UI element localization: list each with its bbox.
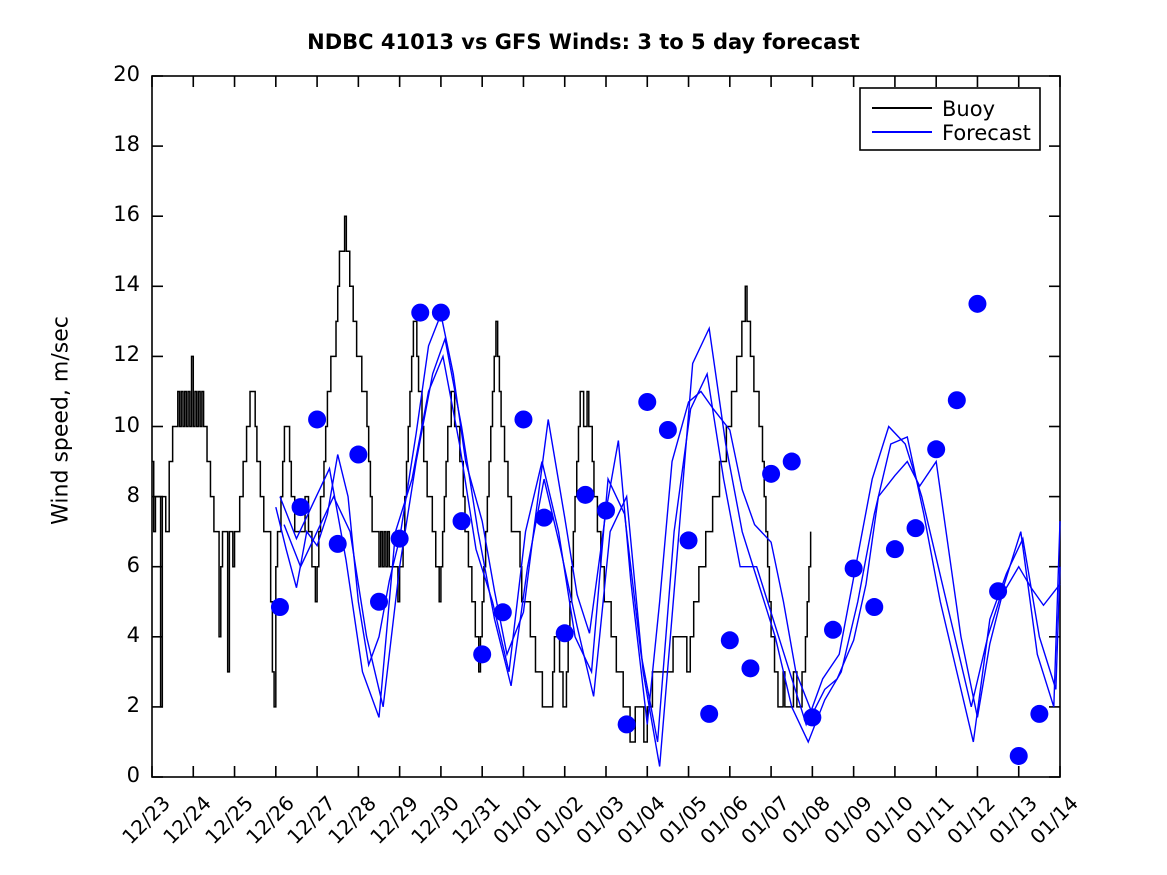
scatter-marker [1030,705,1048,723]
scatter-marker [927,440,945,458]
y-tick-label: 2 [80,693,140,717]
y-tick-label: 14 [80,272,140,296]
scatter-marker [411,304,429,322]
scatter-marker [638,393,656,411]
scatter-marker [803,708,821,726]
scatter-marker [514,410,532,428]
scatter-marker [865,598,883,616]
y-tick-label: 20 [80,62,140,86]
legend-label-buoy: Buoy [942,97,995,121]
scatter-marker [968,295,986,313]
scatter-marker [659,421,677,439]
scatter-marker [370,593,388,611]
plot-area: BuoyForecast [0,0,1167,875]
scatter-marker [721,631,739,649]
scatter-marker [783,453,801,471]
y-tick-label: 18 [80,132,140,156]
scatter-marker [700,705,718,723]
scatter-marker [535,509,553,527]
scatter-marker [473,645,491,663]
scatter-marker [989,582,1007,600]
scatter-marker [453,512,471,530]
scatter-marker [680,531,698,549]
y-tick-label: 4 [80,623,140,647]
scatter-marker [824,621,842,639]
y-tick-label: 6 [80,553,140,577]
scatter-marker [329,535,347,553]
y-tick-label: 8 [80,483,140,507]
y-tick-label: 0 [80,763,140,787]
legend-label-forecast: Forecast [942,121,1031,145]
scatter-marker [391,530,409,548]
scatter-marker [1010,747,1028,765]
scatter-marker [556,624,574,642]
scatter-marker [762,465,780,483]
y-tick-label: 12 [80,342,140,366]
scatter-marker [308,410,326,428]
scatter-marker [907,519,925,537]
scatter-marker [948,391,966,409]
scatter-marker [845,559,863,577]
scatter-marker [494,603,512,621]
scatter-marker [292,498,310,516]
scatter-marker [618,715,636,733]
chart-legend: BuoyForecast [860,88,1040,150]
scatter-marker [886,540,904,558]
scatter-marker [271,598,289,616]
y-tick-label: 16 [80,202,140,226]
y-tick-label: 10 [80,413,140,437]
scatter-marker [432,304,450,322]
chart-page: NDBC 41013 vs GFS Winds: 3 to 5 day fore… [0,0,1167,875]
scatter-marker [741,659,759,677]
scatter-marker [349,446,367,464]
scatter-marker [576,486,594,504]
scatter-marker [597,502,615,520]
